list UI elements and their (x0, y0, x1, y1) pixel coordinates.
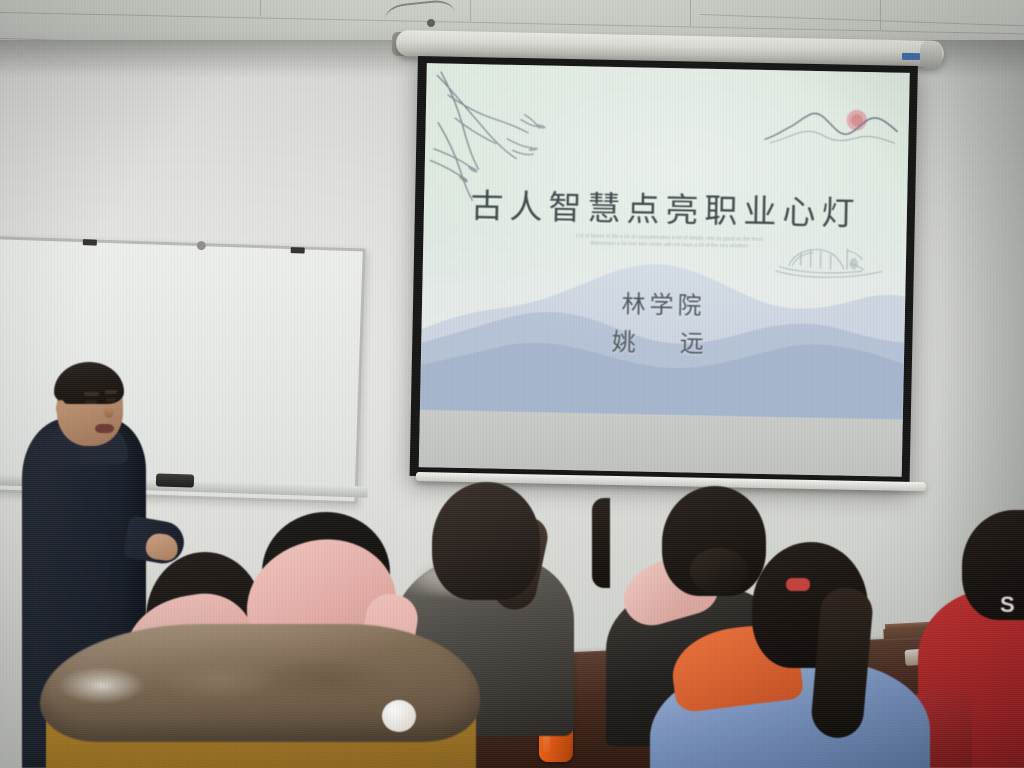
pom-pom (382, 700, 416, 732)
presentation-slide: 古人智慧点亮职业心灯 Lot of bloom in life a lot of… (420, 63, 910, 420)
presenter-brow (84, 392, 99, 396)
whiteboard-clip (83, 239, 97, 245)
head (432, 482, 540, 600)
head-partial (592, 498, 610, 588)
screen-surface: 古人智慧点亮职业心灯 Lot of bloom in life a lot of… (419, 63, 910, 477)
screen-blank-band (419, 411, 903, 477)
presenter-ear (56, 400, 66, 417)
whiteboard-eraser (156, 473, 194, 487)
hair-bun (690, 548, 748, 594)
presenter-eye (106, 398, 116, 402)
ink-fishing-boat-icon (770, 240, 887, 287)
roller-end-cap-right (920, 41, 943, 69)
presenter-eye (85, 400, 97, 404)
slide-title: 古人智慧点亮职业心灯 (424, 178, 908, 236)
whiteboard-magnet (197, 241, 206, 250)
fur-collar (40, 624, 480, 742)
roller-brand-label (902, 53, 920, 60)
whiteboard-clip (291, 247, 305, 253)
hair-tie (786, 578, 810, 591)
projection-screen: 古人智慧点亮职业心灯 Lot of bloom in life a lot of… (410, 56, 918, 486)
ink-mountain-sun-icon (763, 101, 899, 159)
classroom-photo-scene: 古人智慧点亮职业心灯 Lot of bloom in life a lot of… (0, 0, 1024, 768)
hoodie-logo: S (1000, 592, 1024, 620)
ceiling-hook (427, 19, 435, 27)
presenter-nose (104, 406, 114, 418)
presenter-brow (105, 390, 117, 394)
presenter-mouth (95, 424, 114, 433)
